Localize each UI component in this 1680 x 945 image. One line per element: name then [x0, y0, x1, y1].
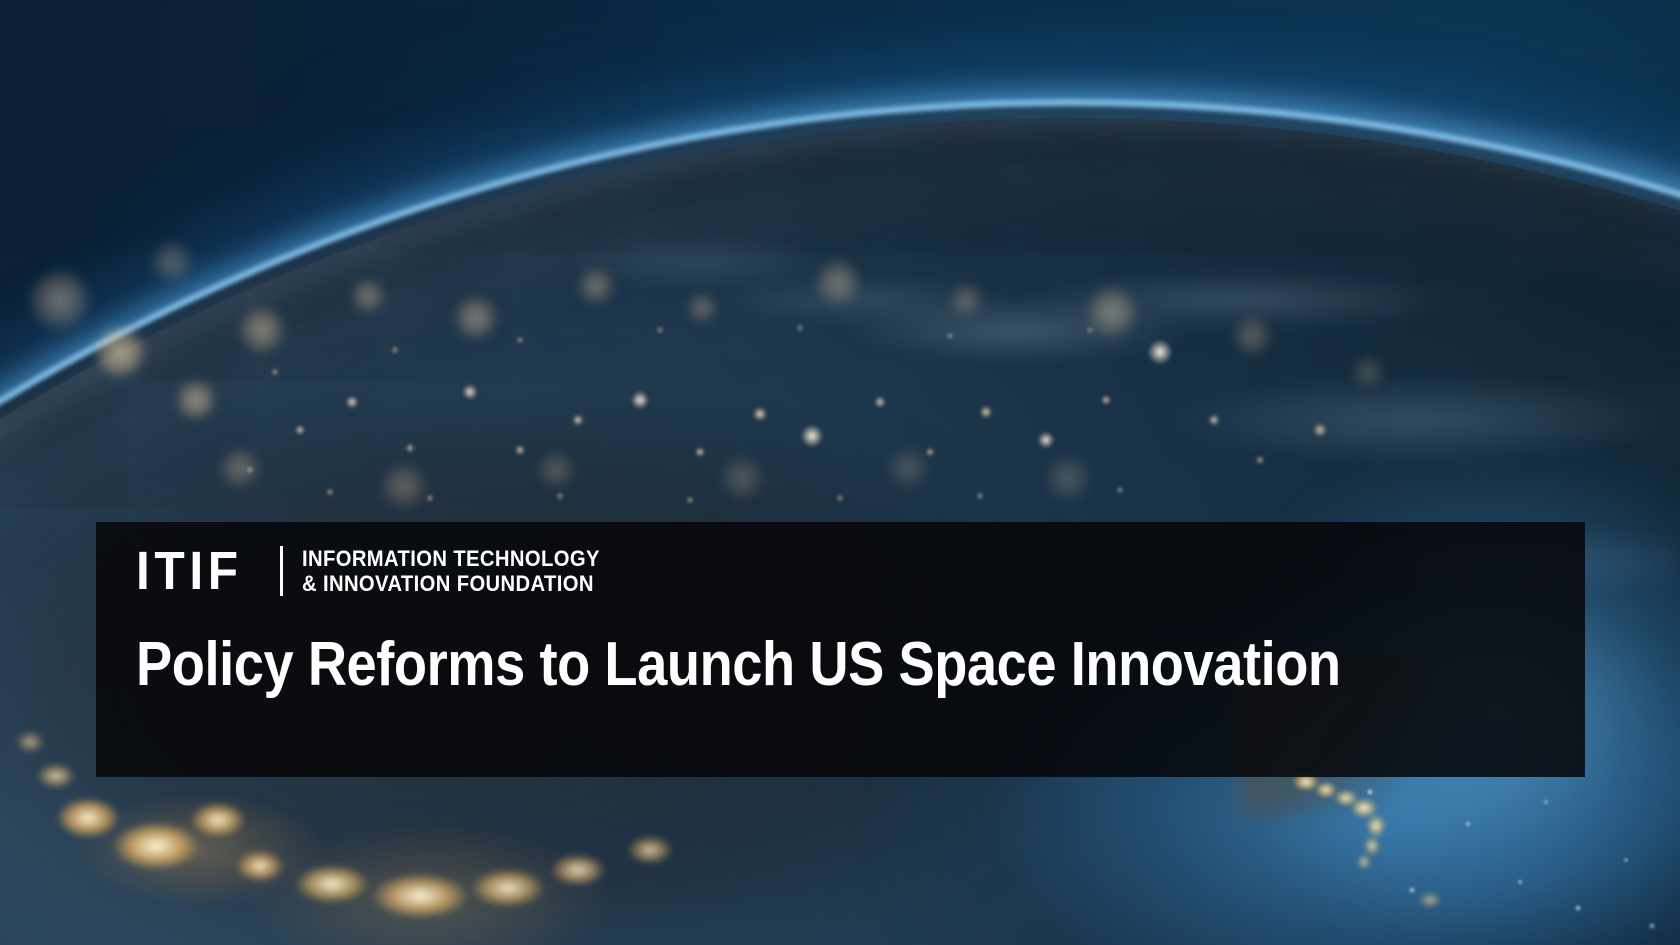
- vertical-divider-icon: [280, 546, 283, 596]
- itif-logo-lockup[interactable]: ITIF INFORMATION TECHNOLOGY & INNOVATION…: [136, 544, 626, 598]
- itif-wordmark: ITIF: [136, 544, 243, 598]
- hero-banner-image: ITIF INFORMATION TECHNOLOGY & INNOVATION…: [0, 0, 1680, 945]
- itif-full-name: INFORMATION TECHNOLOGY & INNOVATION FOUN…: [302, 547, 626, 595]
- itif-name-line-1: INFORMATION TECHNOLOGY: [302, 547, 600, 570]
- title-overlay-band: ITIF INFORMATION TECHNOLOGY & INNOVATION…: [96, 522, 1585, 777]
- itif-name-line-2: & INNOVATION FOUNDATION: [302, 572, 600, 595]
- page-title: Policy Reforms to Launch US Space Innova…: [136, 630, 1341, 700]
